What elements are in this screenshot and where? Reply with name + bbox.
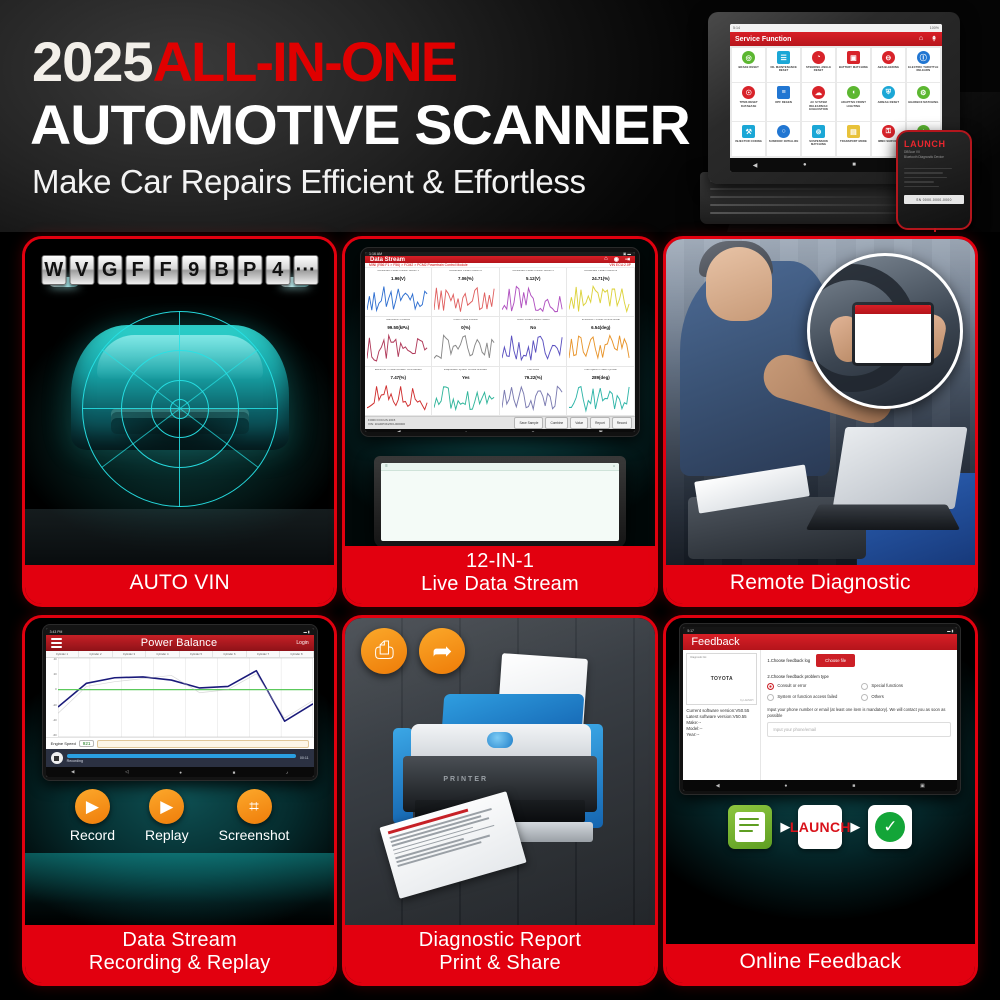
report-action-icons: ⎙ ➦ <box>361 628 465 674</box>
service-tile-icon: ≡ <box>777 86 790 99</box>
feedback-log-question: 1.Choose feedback log <box>767 658 810 663</box>
vci-cord <box>934 228 936 232</box>
nav-recents-icon[interactable]: ■ <box>532 430 535 432</box>
y-axis-tick: -40 <box>47 719 58 722</box>
parameter-sparkline <box>434 381 497 415</box>
vci-dongle: LAUNCH DBScar VII Bluetooth Diagnostic D… <box>896 130 972 230</box>
power-balance-tablet: 3:43 PM ▬ ▮ Power Balance Login Cylinder… <box>42 624 318 781</box>
cylinder-column-header: Cylinder 4 <box>146 651 180 657</box>
nav-sound-icon[interactable]: ♪ <box>286 770 288 775</box>
thumbnail-brand: TOYOTA <box>711 676 733 682</box>
service-tile-icon: ⛨ <box>882 86 895 99</box>
service-tile-icon: ⚒ <box>742 125 755 138</box>
cylinder-column-header: Cylinder 8 <box>280 651 314 657</box>
vin-ground <box>25 509 334 565</box>
breadcrumb-path: MINI (R56 F1 > F56) > FCM2 > PCM2 Powert… <box>369 263 468 267</box>
hero-all-in-one: ALL-IN-ONE <box>153 30 457 93</box>
card-label-data-stream-recording: Data Stream Recording & Replay <box>25 925 334 983</box>
service-function-tile[interactable]: ≡DPF REGEN <box>767 83 800 120</box>
recording-action[interactable]: ▶Record <box>70 789 115 843</box>
auto-vin-media: WVGFF9BP4··· <box>25 239 334 565</box>
flow-arrow-2: ▶ <box>850 819 860 835</box>
chart-y-axis: 40200-20-40-60 <box>47 658 58 737</box>
action-label: Replay <box>145 827 189 843</box>
service-tile-label: AC SYSTEM RELEARN/AC EXHAUSTION <box>802 101 835 110</box>
parameter-sparkline <box>367 381 430 415</box>
parameter-name: Evaporative System Vehicle Activated <box>444 369 487 374</box>
service-tile-icon: Ⓘ <box>917 51 930 64</box>
feedback-form: 1.Choose feedback log Choose file 2.Choo… <box>761 650 957 780</box>
service-function-tile[interactable]: ☰OIL MAINTENANCE RESET <box>767 48 800 82</box>
replay-icon[interactable]: ▶ <box>149 789 184 824</box>
data-stream-titlebar: Data Stream ⌂ ◉ ⇥ <box>365 256 635 263</box>
service-function-tile[interactable]: ⚒INJECTOR CODING <box>732 122 765 156</box>
label-line-2: Print & Share <box>349 952 650 976</box>
hero-banner: 2025ALL-IN-ONE AUTOMOTIVE SCANNER Make C… <box>0 0 1000 232</box>
data-stream-parameter[interactable]: Accelerator Pedal Position D7.06(%) <box>432 268 500 317</box>
engine-speed-slider[interactable] <box>97 740 308 748</box>
hero-device-cluster: 5:14 100% Service Function ⌂ ↟ ◎BRAKE RE… <box>700 12 990 227</box>
upload-icon[interactable]: ↟ <box>931 35 937 43</box>
power-balance-plot <box>58 658 313 737</box>
feedback-log-row: 1.Choose feedback log Choose file <box>767 654 951 667</box>
y-axis-tick: 20 <box>47 673 58 676</box>
data-stream-parameter[interactable]: Accelerator Pedal Position Sensor 11.96(… <box>365 268 433 317</box>
nav-home-icon[interactable]: ● <box>179 770 182 775</box>
service-function-tile[interactable]: ⊚SUSPENSION MATCHING <box>802 122 835 156</box>
recording-action[interactable]: ⌗Screenshot <box>219 789 290 843</box>
service-function-tile[interactable]: ⒾELECTRIC THROTTLE RELEARN <box>907 48 940 82</box>
service-tile-icon: ◔ <box>812 51 825 64</box>
parameter-value: No <box>530 325 536 330</box>
nav-home-icon[interactable]: ● <box>784 783 787 789</box>
service-tile-icon: ⚙ <box>917 86 930 99</box>
service-tile-icon: ☉ <box>742 86 755 99</box>
nav-recents-icon[interactable]: ■ <box>233 770 236 775</box>
feature-card-grid: WVGFF9BP4··· AUTO VIN 1:16 AM ▣ ▬ Data S… <box>0 236 1000 1000</box>
parameter-sparkline <box>569 381 632 415</box>
contact-note: Input your phone number or email (at lea… <box>767 707 951 718</box>
data-stream-parameter[interactable]: Accelerator Pedal Position Sensor 25.12(… <box>500 268 568 317</box>
data-stream-screen: 1:16 AM ▣ ▬ Data Stream ⌂ ◉ ⇥ MINI (R56 … <box>365 252 635 432</box>
parameter-name: Barometric Pressure <box>386 319 410 324</box>
vehicle-vin: VIN: 1FADP3K2XFL000000 <box>368 423 405 427</box>
parameter-name: Fuel Level <box>527 369 539 374</box>
service-function-tile[interactable]: ☁AC SYSTEM RELEARN/AC EXHAUSTION <box>802 83 835 120</box>
hero-title-line-1: 2025ALL-IN-ONE <box>32 34 456 90</box>
data-stream-parameter[interactable]: Electronic Throttle Actuator Commanded7.… <box>365 367 433 416</box>
inset-tablet-screen <box>855 305 931 363</box>
radio-button-icon[interactable] <box>767 683 774 690</box>
software-meta-item: Latest software version:V50.55 <box>686 714 757 720</box>
card-label-live-data-stream: 12-IN-1 Live Data Stream <box>345 546 654 604</box>
data-stream-parameter[interactable]: Accelerator Pedal Position E24.71(%) <box>567 268 635 317</box>
status-battery: 100% <box>930 26 939 30</box>
parameter-value: 7.06(%) <box>458 276 473 281</box>
card-diagnostic-report[interactable]: ⎙ ➦ PRINTER <box>342 615 657 986</box>
software-meta-item: Year:-- <box>686 732 757 738</box>
flow-arrow-1: ▶ <box>780 819 790 835</box>
service-tile-label: TPMS RESET DATABASE <box>732 101 765 107</box>
recording-label: Recording <box>67 759 296 763</box>
power-balance-titlebar: Power Balance Login <box>46 635 314 651</box>
vci-barcode: SN 0000-0000-0000 <box>904 195 964 204</box>
parameter-sparkline <box>569 331 632 365</box>
card-label-remote-diagnostic: Remote Diagnostic <box>666 565 975 604</box>
service-tile-label: BRAKE RESET <box>738 66 760 69</box>
nav-recents-icon[interactable]: ■ <box>852 162 856 168</box>
hamburger-menu-icon[interactable] <box>51 638 62 647</box>
data-stream-title: Data Stream <box>370 257 405 263</box>
feedback-flow-row: ▶ LAUNCH ▶ ✓ <box>728 805 912 849</box>
live-data-stream-media: 1:16 AM ▣ ▬ Data Stream ⌂ ◉ ⇥ MINI (R56 … <box>345 239 654 546</box>
card-label-online-feedback: Online Feedback <box>666 944 975 983</box>
service-tile-label: ADAPTIVE FRONT LIGHTING <box>837 101 870 107</box>
power-balance-status-bar: 3:43 PM ▬ ▮ <box>46 628 314 635</box>
parameter-sparkline <box>502 331 565 365</box>
cylinder-column-headers: Cylinder 1Cylinder 2Cylinder 3Cylinder 4… <box>46 651 314 658</box>
parameter-value: Yes <box>462 375 470 380</box>
laptop-lid <box>833 427 968 509</box>
thumbnail-byline: by LAUNCH <box>740 699 753 702</box>
service-tile-icon: ◎ <box>742 51 755 64</box>
share-icon[interactable]: ➦ <box>419 628 465 674</box>
service-tile-icon: ▣ <box>847 51 860 64</box>
data-stream-parameter[interactable]: Evaporative System Vehicle ActivatedYes <box>432 367 500 416</box>
status-time: 5:17 <box>687 629 694 633</box>
parameter-name: Accelerator Pedal Position E <box>584 270 617 275</box>
data-stream-action-button[interactable]: Save Sample <box>514 417 543 429</box>
cylinder-column-header: Cylinder 6 <box>213 651 247 657</box>
service-function-tile[interactable]: ⊖ABS BLEEDING <box>872 48 905 82</box>
service-function-tile[interactable]: ▤TRANSPORT MODE <box>837 122 870 156</box>
parameter-value: 7.47(%) <box>391 375 406 380</box>
parameter-sparkline <box>569 282 632 316</box>
parameter-sparkline <box>367 331 430 365</box>
nav-back-icon[interactable]: ◁ <box>125 769 128 775</box>
exit-icon[interactable]: ⇥ <box>625 256 630 263</box>
power-balance-nav-bar: ◀ ◁ ● ■ ♪ <box>46 767 314 777</box>
cylinder-column-header: Cylinder 1 <box>46 651 80 657</box>
vin-character: G <box>97 255 122 285</box>
vehicle-info: FORD FOCUS 2015 VIN: 1FADP3K2XFL000000 <box>368 419 405 427</box>
card-label-auto-vin: AUTO VIN <box>25 565 334 604</box>
thumbnail-title: Diagnostic list <box>690 656 706 659</box>
check-circle-icon: ✓ <box>868 805 912 849</box>
data-stream-parameter[interactable]: Barometric Pressure99.50(kPa) <box>365 317 433 366</box>
feedback-sidebar: Diagnostic list TOYOTA by LAUNCH Current… <box>683 650 761 780</box>
inset-tablet-titlebar <box>855 305 931 314</box>
nav-home-icon[interactable]: ● <box>465 430 468 432</box>
data-stream-parameter[interactable]: Clutch Pedal Position SwitchNo <box>500 317 568 366</box>
data-stream-parameter[interactable]: Fuel Injector Phase Cylinder289(deg) <box>567 367 635 416</box>
problem-type-options: Consult or errorSpecial functionsSystem … <box>767 683 951 701</box>
data-stream-parameter[interactable]: Clutch Pedal Position0(%) <box>432 317 500 366</box>
power-balance-media: 3:43 PM ▬ ▮ Power Balance Login Cylinder… <box>25 618 334 925</box>
parameter-name: Emissions Throttle Control Actual <box>582 319 620 324</box>
parameter-sparkline <box>434 331 497 365</box>
cylinder-column-header: Cylinder 2 <box>79 651 113 657</box>
service-tile-icon: ◖ <box>847 86 860 99</box>
service-tile-icon: ○ <box>777 125 790 138</box>
data-stream-footer: FORD FOCUS 2015 VIN: 1FADP3K2XFL000000 S… <box>365 416 635 429</box>
label-line-1: 12-IN-1 <box>466 550 534 572</box>
action-label: Screenshot <box>219 827 290 843</box>
service-tile-label: INJECTOR CODING <box>734 140 763 143</box>
feedback-tablet: 5:17 ▬ ▮ Feedback Diagnostic list TOYOTA… <box>679 623 961 795</box>
hero-title-line-2: AUTOMOTIVE SCANNER <box>30 97 690 153</box>
vci-spec-lines <box>904 168 964 188</box>
data-stream-action-button[interactable]: Value <box>570 417 588 429</box>
diagnostic-list-thumbnail[interactable]: Diagnostic list TOYOTA by LAUNCH <box>686 653 757 705</box>
hero-subtitle: Make Car Repairs Efficient & Effortless <box>32 163 586 201</box>
software-meta-list: Current software version:V50.55Latest so… <box>686 708 757 738</box>
teal-glow <box>25 853 334 925</box>
parameter-name: Accelerator Pedal Position D <box>449 270 482 275</box>
nav-back-icon[interactable]: ◀ <box>397 429 400 432</box>
label-line-1: Data Stream <box>122 929 236 951</box>
printer-icon[interactable]: ⎙ <box>361 628 407 674</box>
technician-head <box>706 247 772 321</box>
option-label: Special functions <box>871 683 903 688</box>
card-data-stream-recording[interactable]: 3:43 PM ▬ ▮ Power Balance Login Cylinder… <box>22 615 337 986</box>
data-stream-tablet: 1:16 AM ▣ ▬ Data Stream ⌂ ◉ ⇥ MINI (R56 … <box>360 247 640 437</box>
service-tile-label: TRANSPORT MODE <box>839 140 868 143</box>
diagnostic-report-media: ⎙ ➦ PRINTER <box>345 618 654 925</box>
stop-recording-button[interactable] <box>51 752 63 764</box>
action-label: Record <box>70 827 115 843</box>
parameter-value: 0(%) <box>461 325 470 330</box>
vin-character: F <box>153 255 178 285</box>
parameter-value: 79.22(%) <box>524 375 542 380</box>
vci-model: DBScar VII <box>904 150 964 154</box>
data-stream-parameter[interactable]: Fuel Level79.22(%) <box>500 367 568 416</box>
feedback-status-bar: 5:17 ▬ ▮ <box>683 627 957 634</box>
parameter-name: Accelerator Pedal Position Sensor 1 <box>377 270 419 275</box>
card-label-diagnostic-report: Diagnostic Report Print & Share <box>345 925 654 983</box>
service-tile-label: SUNROOF INITIALIZE <box>768 140 800 143</box>
recording-action[interactable]: ▶Replay <box>145 789 189 843</box>
service-function-titlebar: Service Function ⌂ ↟ <box>730 32 942 46</box>
laptop <box>809 437 961 541</box>
reticle-ring-core <box>170 399 190 419</box>
inset-circle-photo <box>807 253 963 409</box>
parameter-name: Clutch Pedal Position <box>453 319 478 324</box>
nav-home-icon[interactable]: ● <box>803 162 807 168</box>
status-icons: ▬ ▮ <box>947 629 953 633</box>
login-button[interactable]: Login <box>296 640 308 646</box>
base-screen-inner: ☰□ <box>381 463 619 541</box>
recording-progress[interactable] <box>67 754 296 758</box>
hero-year: 2025 <box>32 30 153 93</box>
parameter-value: 5.12(V) <box>526 276 540 281</box>
nav-volume-icon[interactable]: ◀ <box>71 769 74 775</box>
nav-back-icon[interactable]: ◀ <box>716 783 720 789</box>
service-function-tile[interactable]: ○SUNROOF INITIALIZE <box>767 122 800 156</box>
record-icon[interactable]: ◉ <box>614 256 619 263</box>
edit-document-icon[interactable] <box>728 805 772 849</box>
service-function-tile[interactable]: ⛨AIRBAG RESET <box>872 83 905 120</box>
data-stream-base-screen: ☰□ <box>374 456 626 546</box>
data-stream-parameter-grid: Accelerator Pedal Position Sensor 11.96(… <box>365 268 635 416</box>
card-live-data-stream[interactable]: 1:16 AM ▣ ▬ Data Stream ⌂ ◉ ⇥ MINI (R56 … <box>342 236 657 607</box>
option-label: Consult or error <box>777 683 806 688</box>
engine-speed-value: 921 <box>79 740 95 747</box>
home-icon[interactable]: ⌂ <box>604 256 608 263</box>
data-stream-button-row: Save SampleCombineValueReportRecord <box>514 417 632 429</box>
vin-character: F <box>125 255 150 285</box>
service-tile-icon: ⚿ <box>882 125 895 138</box>
status-icons: ▬ ▮ <box>303 630 309 634</box>
vin-character: B <box>209 255 234 285</box>
service-function-tile[interactable]: ⚙GEARBOX MATCHING <box>907 83 940 120</box>
power-balance-chart: 40200-20-40-60 <box>46 658 314 737</box>
parameter-sparkline <box>502 282 565 316</box>
launch-label: LAUNCH <box>790 819 851 835</box>
service-function-title: Service Function <box>735 36 791 43</box>
data-stream-action-button[interactable]: Report <box>590 417 610 429</box>
parameter-name: Clutch Pedal Position Switch <box>517 319 550 324</box>
vci-subtitle: Bluetooth Diagnostic Device <box>904 155 964 159</box>
problem-type-question: 2.Choose feedback problem type <box>767 674 951 679</box>
online-feedback-media: 5:17 ▬ ▮ Feedback Diagnostic list TOYOTA… <box>666 618 975 944</box>
service-tile-icon: ☰ <box>777 51 790 64</box>
recording-bar: Recording 00:11 <box>46 749 314 767</box>
status-time: 3:43 PM <box>50 630 63 634</box>
service-tile-icon: ⊖ <box>882 51 895 64</box>
vin-character-row: WVGFF9BP4··· <box>41 255 318 285</box>
tablet-status-bar: 5:14 100% <box>730 24 942 32</box>
y-axis-tick: 0 <box>47 688 58 691</box>
feedback-title: Feedback <box>691 636 739 648</box>
home-icon[interactable]: ⌂ <box>919 35 923 43</box>
data-stream-nav-bar: ◀ ● ■ ▣ <box>365 429 635 432</box>
feedback-nav-bar: ◀ ● ■ ▣ <box>683 780 957 791</box>
nav-recents-icon[interactable]: ■ <box>852 783 855 789</box>
y-axis-tick: -20 <box>47 704 58 707</box>
engine-speed-row: Engine Speed 921 <box>46 737 314 749</box>
radio-button-icon[interactable] <box>861 694 868 701</box>
service-tile-icon: ☁ <box>812 86 825 99</box>
service-tile-label: DPF REGEN <box>774 101 793 104</box>
vin-character: ··· <box>293 255 318 285</box>
printer-power-button[interactable] <box>487 732 513 748</box>
parameter-value: 24.71(%) <box>592 276 610 281</box>
vin-character: 4 <box>265 255 290 285</box>
parameter-sparkline <box>367 282 430 316</box>
nav-back-icon[interactable]: ◀ <box>753 162 758 169</box>
option-label: System or function access failed <box>777 694 837 699</box>
printer-brand-label: PRINTER <box>443 776 488 783</box>
problem-type-option[interactable]: System or function access failed <box>767 694 857 701</box>
printer-illustration: PRINTER <box>393 704 603 844</box>
service-function-tile[interactable]: ☉TPMS RESET DATABASE <box>732 83 765 120</box>
label-line-2: Recording & Replay <box>29 952 330 976</box>
service-tile-label: GEARBOX MATCHING <box>907 101 939 104</box>
video-record-icon[interactable]: ▶ <box>75 789 110 824</box>
parameter-sparkline <box>502 381 565 415</box>
problem-type-option[interactable]: Others <box>861 694 951 701</box>
data-stream-action-button[interactable]: Record <box>612 417 632 429</box>
parameter-value: 6.54(deg) <box>591 325 610 330</box>
cylinder-column-header: Cylinder 7 <box>247 651 281 657</box>
feedback-body: Diagnostic list TOYOTA by LAUNCH Current… <box>683 650 957 780</box>
recording-action-row: ▶Record▶Replay⌗Screenshot <box>70 789 290 843</box>
base-screen-toolbar: ☰□ <box>381 463 619 471</box>
problem-type-option[interactable]: Consult or error <box>767 683 857 690</box>
vin-character: 9 <box>181 255 206 285</box>
service-function-tile[interactable]: ◔STEERING ANGLE RESET <box>802 48 835 82</box>
service-tile-label: AIRBAG RESET <box>877 101 901 104</box>
remote-diagnostic-media <box>666 239 975 565</box>
label-line-1: Diagnostic Report <box>419 929 581 951</box>
launch-brand-badge: LAUNCH <box>798 805 842 849</box>
recording-time: 00:11 <box>300 756 309 760</box>
status-time: 5:14 <box>733 26 740 30</box>
choose-file-button[interactable]: Choose file <box>816 654 855 667</box>
parameter-name: Accelerator Pedal Position Sensor 2 <box>512 270 554 275</box>
crop-screenshot-icon[interactable]: ⌗ <box>237 789 272 824</box>
service-tile-label: ELECTRIC THROTTLE RELEARN <box>907 66 940 72</box>
cylinder-column-header: Cylinder 5 <box>180 651 214 657</box>
parameter-value: 1.96(V) <box>391 276 405 281</box>
vci-brand: LAUNCH <box>904 139 964 149</box>
data-stream-parameter[interactable]: Emissions Throttle Control Actual6.54(de… <box>567 317 635 366</box>
card-online-feedback[interactable]: 5:17 ▬ ▮ Feedback Diagnostic list TOYOTA… <box>663 615 978 986</box>
engine-speed-label: Engine Speed <box>51 741 76 746</box>
vin-character: P <box>237 255 262 285</box>
radio-button-icon[interactable] <box>861 683 868 690</box>
parameter-sparkline <box>434 282 497 316</box>
vin-character: V <box>69 255 94 285</box>
data-stream-action-button[interactable]: Combine <box>545 417 568 429</box>
service-tile-icon: ⊚ <box>812 125 825 138</box>
problem-type-option[interactable]: Special functions <box>861 683 951 690</box>
power-balance-screen: 3:43 PM ▬ ▮ Power Balance Login Cylinder… <box>46 628 314 777</box>
service-tile-label: BATTERY MATCHING <box>838 66 869 69</box>
y-axis-tick: 40 <box>47 658 58 661</box>
service-tile-label: SUSPENSION MATCHING <box>802 140 835 146</box>
parameter-value: 99.50(kPa) <box>387 325 409 330</box>
service-tile-label: ABS BLEEDING <box>877 66 901 69</box>
power-balance-title: Power Balance <box>141 637 218 649</box>
card-auto-vin[interactable]: WVGFF9BP4··· AUTO VIN <box>22 236 337 607</box>
vin-character: W <box>41 255 66 285</box>
parameter-name: Electronic Throttle Actuator Commanded <box>375 369 422 374</box>
cylinder-column-header: Cylinder 3 <box>113 651 147 657</box>
nav-screenshot-icon[interactable]: ▣ <box>920 783 925 789</box>
breadcrumb-ecu: VIN ECU:2.0P <box>609 263 631 267</box>
feedback-screen: 5:17 ▬ ▮ Feedback Diagnostic list TOYOTA… <box>683 627 957 791</box>
card-remote-diagnostic[interactable]: Remote Diagnostic <box>663 236 978 607</box>
inset-tablet <box>852 302 934 366</box>
service-function-tile[interactable]: ▣BATTERY MATCHING <box>837 48 870 82</box>
service-tile-label: STEERING ANGLE RESET <box>802 66 835 72</box>
option-label: Others <box>871 694 884 699</box>
service-function-tile[interactable]: ◖ADAPTIVE FRONT LIGHTING <box>837 83 870 120</box>
y-axis-tick: -60 <box>47 734 58 737</box>
phone-email-input[interactable]: Input your phone/email <box>767 722 951 737</box>
parameter-name: Fuel Injector Phase Cylinder <box>584 369 617 374</box>
radio-button-icon[interactable] <box>767 694 774 701</box>
service-function-tile[interactable]: ◎BRAKE RESET <box>732 48 765 82</box>
service-tile-label: OIL MAINTENANCE RESET <box>767 66 800 72</box>
service-tile-icon: ▤ <box>847 125 860 138</box>
feedback-titlebar: Feedback <box>683 634 957 650</box>
nav-screenshot-icon[interactable]: ▣ <box>599 429 603 432</box>
label-line-2: Live Data Stream <box>349 573 650 597</box>
parameter-value: 289(deg) <box>592 375 610 380</box>
